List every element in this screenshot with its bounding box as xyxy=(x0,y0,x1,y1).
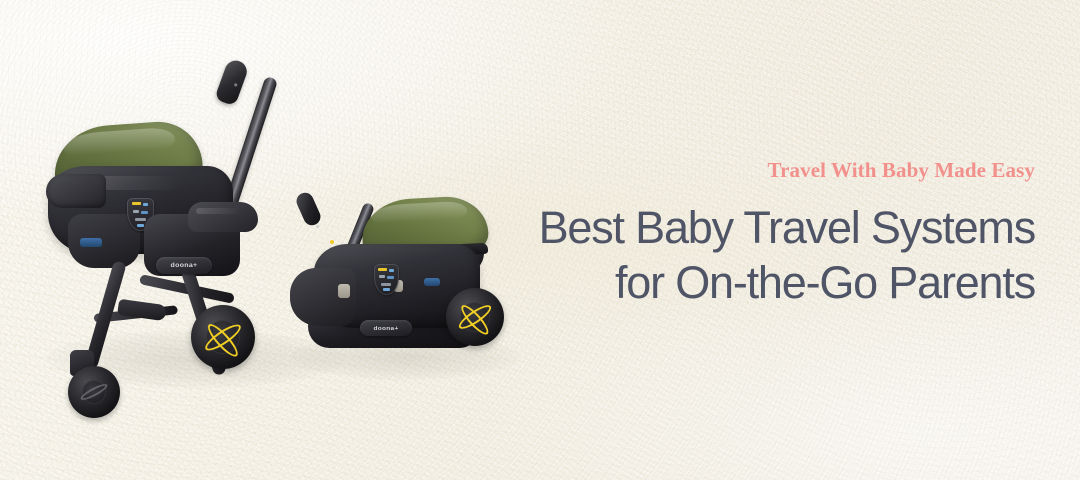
car-seat-handle-marker xyxy=(316,225,319,228)
stroller-blue-release-tab xyxy=(80,238,102,247)
hero-banner: doona+ d xyxy=(0,0,1080,480)
car-seat-harness-pad xyxy=(338,284,350,298)
car-seat-rear-wheel xyxy=(446,288,504,346)
car-seat-blue-release-tab xyxy=(424,278,440,286)
brand-logo-badge: doona+ xyxy=(360,320,412,336)
brand-logo-text: doona+ xyxy=(171,262,198,268)
page-title: Best Baby Travel Systems for On-the-Go P… xyxy=(515,201,1035,311)
headline-line-2: for On-the-Go Parents xyxy=(515,256,1035,311)
product-doona-car-seat-mode: doona+ xyxy=(288,192,528,367)
brand-logo-badge: doona+ xyxy=(156,257,212,274)
stroller-rear-wheel xyxy=(191,305,255,369)
stroller-handle-grip xyxy=(214,58,250,107)
brand-logo-text: doona+ xyxy=(373,325,398,331)
eyebrow-text: Travel With Baby Made Easy xyxy=(515,160,1035,181)
stroller-arm-bar xyxy=(188,202,258,232)
car-seat-handle-release-button xyxy=(330,240,334,244)
hero-copy-block: Travel With Baby Made Easy Best Baby Tra… xyxy=(515,160,1035,311)
stroller-front-caster-wheel xyxy=(68,366,120,418)
stroller-shell-lip xyxy=(46,174,106,208)
headline-line-1: Best Baby Travel Systems xyxy=(515,201,1035,256)
car-seat-handle-grip xyxy=(294,190,323,228)
